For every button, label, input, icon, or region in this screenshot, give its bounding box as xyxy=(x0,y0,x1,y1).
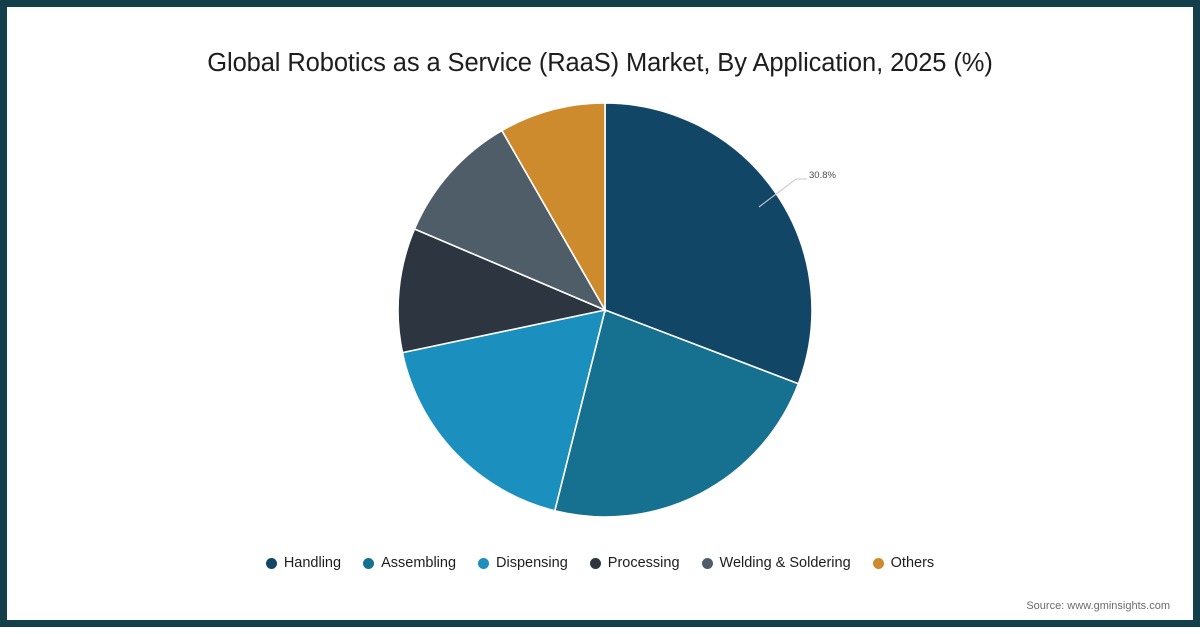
legend-swatch-handling xyxy=(266,558,277,569)
legend-item-assembling[interactable]: Assembling xyxy=(363,555,456,571)
pie-chart-svg xyxy=(7,7,1200,634)
chart-figure: Global Robotics as a Service (RaaS) Mark… xyxy=(0,0,1200,627)
legend-label-processing: Processing xyxy=(608,555,680,571)
pie-plot-area: 30.8% xyxy=(7,7,1200,634)
legend-swatch-others xyxy=(873,558,884,569)
legend-item-others[interactable]: Others xyxy=(873,555,935,571)
legend-swatch-welding-soldering xyxy=(702,558,713,569)
legend-item-welding-soldering[interactable]: Welding & Soldering xyxy=(702,555,851,571)
legend-swatch-processing xyxy=(590,558,601,569)
chart-legend: HandlingAssemblingDispensingProcessingWe… xyxy=(7,555,1193,571)
legend-label-dispensing: Dispensing xyxy=(496,555,568,571)
legend-item-dispensing[interactable]: Dispensing xyxy=(478,555,568,571)
pie-slice-group xyxy=(398,103,812,517)
legend-label-others: Others xyxy=(891,555,935,571)
legend-label-assembling: Assembling xyxy=(381,555,456,571)
legend-swatch-assembling xyxy=(363,558,374,569)
chart-canvas: Global Robotics as a Service (RaaS) Mark… xyxy=(7,7,1193,620)
data-label-handling: 30.8% xyxy=(809,170,836,181)
source-attribution: Source: www.gminsights.com xyxy=(1026,600,1170,612)
legend-item-handling[interactable]: Handling xyxy=(266,555,341,571)
legend-swatch-dispensing xyxy=(478,558,489,569)
legend-label-handling: Handling xyxy=(284,555,341,571)
legend-label-welding-soldering: Welding & Soldering xyxy=(720,555,851,571)
legend-item-processing[interactable]: Processing xyxy=(590,555,680,571)
